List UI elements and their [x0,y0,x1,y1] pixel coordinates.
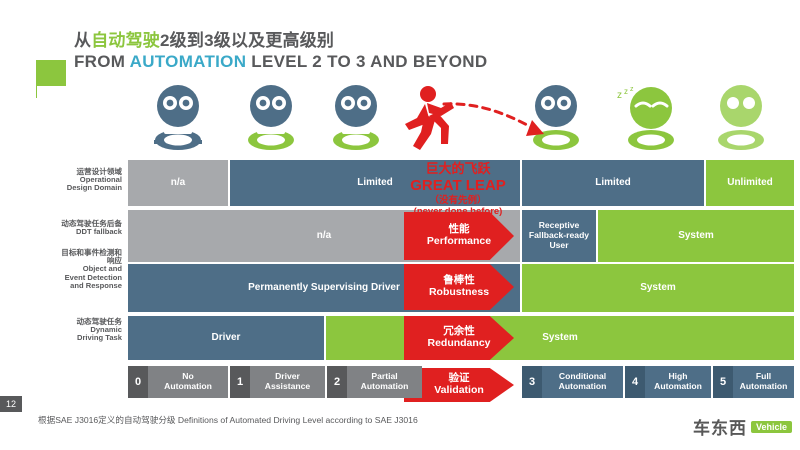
great-leap-line4: (never done before) [396,207,520,218]
page-title-cn: 从自动驾驶2级到3级以及更高级别 [74,26,714,51]
watermark-text: 车东西 [693,414,747,439]
great-leap-line1: 巨大的飞跃 [396,162,520,177]
cell-ddt-driver: Driver [128,316,324,360]
row-label-ddt: 动态驾驶任务 Dynamic Driving Task [0,318,122,343]
cell-odd-limited-2: Limited [522,160,704,206]
page-number-badge: 12 [0,396,22,412]
level-4-label: HighAutomation [645,366,711,398]
level-2-label: PartialAutomation [347,366,422,398]
level-box-2: 2 PartialAutomation [327,366,422,398]
watermark: 车东西 Vehicle [693,414,792,439]
character-level-2 [333,85,379,150]
svg-text:z: z [624,87,628,96]
level-4-line1: High [668,371,687,381]
level-0-label: NoAutomation [148,366,228,398]
cell-odd-unlimited: Unlimited [706,160,794,206]
svg-text:z: z [617,90,622,101]
slide-root: 从自动驾驶2级到3级以及更高级别 FROM AUTOMATION LEVEL 2… [0,0,800,450]
row-label-odd-en2: Design Domain [0,184,122,192]
level-0-line1: No [182,371,193,381]
level-box-0: 0 NoAutomation [128,366,228,398]
row-label-ddt-en1: DDT fallback [0,228,122,236]
level-3-label: ConditionalAutomation [542,366,623,398]
character-level-5 [718,85,764,150]
watermark-badge: Vehicle [751,421,792,433]
arrow-robustness-en: Robustness [429,287,489,299]
svg-text:z: z [630,86,634,93]
row-label-oedr-cn-a: 目标和事件检测和 [0,249,122,257]
level-3-number: 3 [522,366,542,398]
arrow-validation-en: Validation [434,385,484,397]
level-5-line2: Automation [740,381,788,391]
level-2-number: 2 [327,366,347,398]
great-leap-line2: GREAT LEAP [396,177,520,194]
level-1-number: 1 [230,366,250,398]
level-1-line1: Driver [275,371,300,381]
title-en-highlight: AUTOMATION [130,52,247,71]
row-label-oedr: 目标和事件检测和 响应 Object and Event Detection a… [0,249,122,290]
character-level-0 [154,85,202,150]
level-box-3: 3 ConditionalAutomation [522,366,623,398]
title-cn-post: 2级到3级以及更高级别 [160,31,334,50]
title-en-pre: FROM [74,52,130,71]
cell-odd-na: n/a [128,160,228,206]
level-5-number: 5 [713,366,733,398]
title-en-post: LEVEL 2 TO 3 AND BEYOND [246,52,487,71]
character-level-4: z z z [617,86,674,150]
level-5-label: FullAutomation [733,366,794,398]
accent-bar [36,60,66,86]
row-label-odd: 运营设计领域 Operational Design Domain [0,168,122,193]
level-0-line2: Automation [164,381,212,391]
character-level-1 [248,85,294,150]
level-1-line2: Assistance [265,381,310,391]
row-label-ddt-task-en2: Driving Task [0,334,122,342]
level-box-4: 4 HighAutomation [625,366,711,398]
page-title-en: FROM AUTOMATION LEVEL 2 TO 3 AND BEYOND [74,52,734,72]
cell-fallback-receptive: Receptive Fallback-ready User [522,210,596,262]
cell-oedr-system: System [522,264,794,312]
character-icons-row: z z z [0,84,800,154]
arrow-redundancy-en: Redundancy [427,338,490,350]
level-4-line2: Automation [654,381,702,391]
title-cn-pre: 从 [74,31,91,50]
arrow-performance-en: Performance [427,236,491,248]
row-label-oedr-en3: and Response [0,282,122,290]
cell-fallback-system: System [598,210,794,262]
level-3-line2: Automation [559,381,607,391]
row-label-ddt-fallback: 动态驾驶任务后备 DDT fallback [0,220,122,236]
level-3-line1: Conditional [559,371,606,381]
level-2-line2: Automation [361,381,409,391]
cell-ddt-system: System [326,316,794,360]
level-box-1: 1 DriverAssistance [230,366,325,398]
title-cn-highlight: 自动驾驶 [91,31,160,50]
level-box-5: 5 FullAutomation [713,366,794,398]
level-1-label: DriverAssistance [250,366,325,398]
level-0-number: 0 [128,366,148,398]
level-2-line1: Partial [371,371,397,381]
great-leap-label: 巨大的飞跃 GREAT LEAP （没有先例） (never done befo… [396,162,520,218]
dashed-transition-arrow [440,96,560,142]
level-4-number: 4 [625,366,645,398]
footnote-text: 根据SAE J3016定义的自动驾驶分级 Definitions of Auto… [38,414,418,426]
level-5-line1: Full [756,371,771,381]
